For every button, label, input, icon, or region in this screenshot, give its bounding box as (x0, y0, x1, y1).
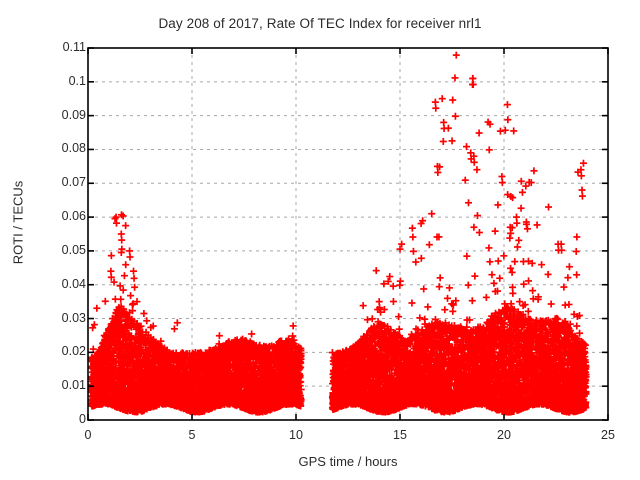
data-points-roti (88, 52, 590, 416)
roti-scatter-chart: Day 208 of 2017, Rate Of TEC Index for r… (0, 0, 640, 480)
plot-canvas (0, 0, 640, 480)
